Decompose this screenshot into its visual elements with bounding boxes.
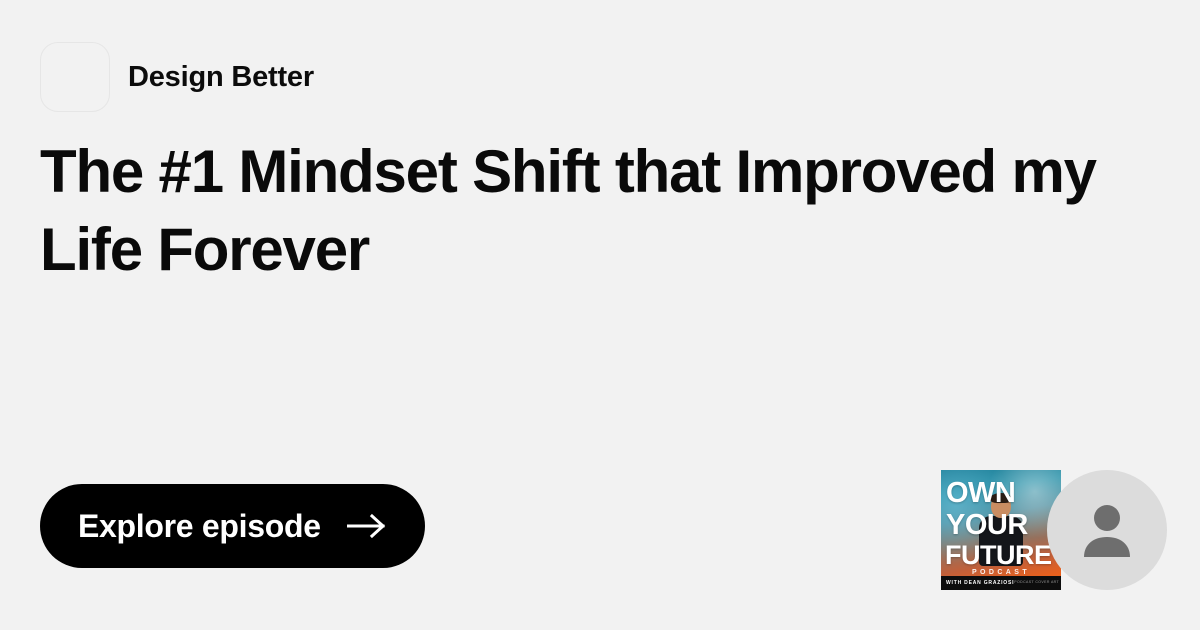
artwork-host-credit: WITH DEAN GRAZIOSI	[946, 581, 1014, 586]
brand-row: Design Better	[40, 42, 314, 112]
avatar[interactable]	[1047, 470, 1167, 590]
podcast-artwork[interactable]: OWN YOUR FUTURE PODCAST WITH DEAN GRAZIO…	[941, 470, 1061, 590]
explore-episode-label: Explore episode	[78, 510, 321, 542]
brand-name: Design Better	[128, 63, 314, 92]
artwork-line-3: FUTURE	[941, 542, 1061, 569]
explore-episode-button[interactable]: Explore episode	[40, 484, 425, 568]
page-title: The #1 Mindset Shift that Improved my Li…	[40, 133, 1110, 289]
person-avatar-icon	[1074, 497, 1140, 563]
logo-placeholder-icon	[40, 42, 110, 112]
arrow-right-icon	[347, 513, 387, 539]
artwork-strip-note: PODCAST COVER ART	[1014, 581, 1059, 585]
artwork-line-1: OWN	[941, 479, 1061, 508]
artwork-credit-strip: WITH DEAN GRAZIOSI PODCAST COVER ART	[941, 576, 1061, 590]
artwork-line-2: YOUR	[941, 511, 1061, 540]
episode-share-card: Design Better The #1 Mindset Shift that …	[0, 0, 1200, 630]
artwork-subtitle: PODCAST	[941, 569, 1061, 576]
